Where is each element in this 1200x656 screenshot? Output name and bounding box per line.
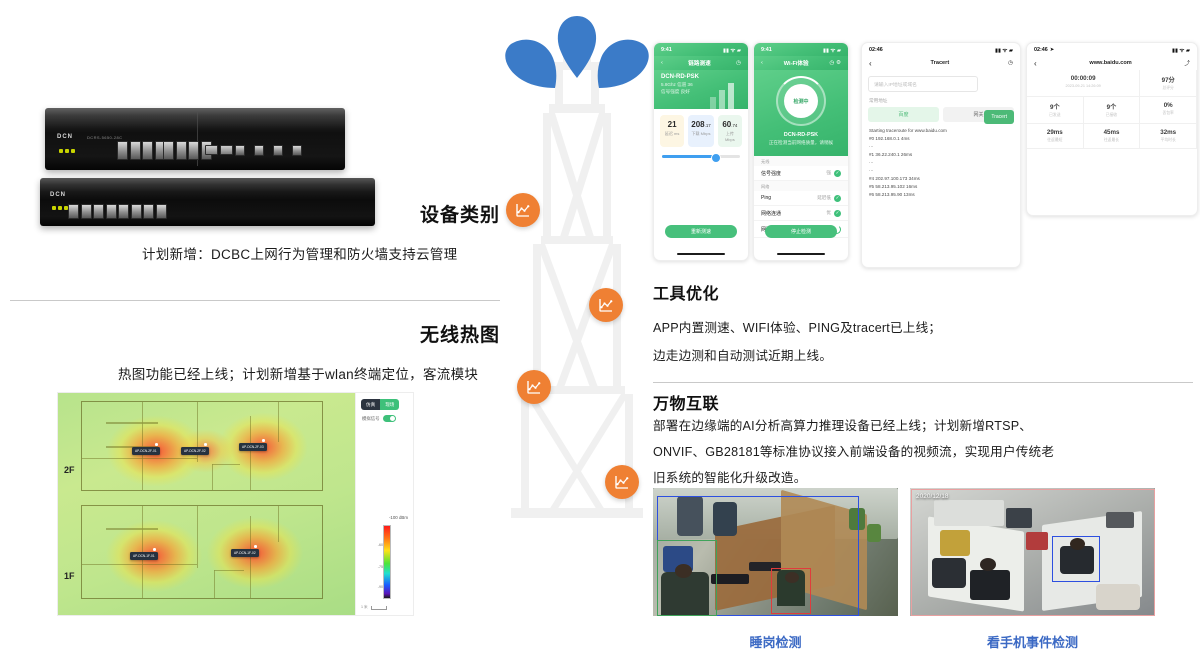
metric-received: 9个 已接收 [1084, 97, 1141, 124]
history-icon[interactable]: ◷ [736, 60, 741, 66]
metric-value: 29ms [1029, 129, 1081, 136]
scale-bar [371, 606, 387, 610]
section-title-iot: 万物互联 [653, 390, 719, 414]
tracert-status-bar: 02:46 ▮▮ ᯤ ▰ [862, 43, 1020, 56]
line-chart-icon [525, 378, 543, 396]
check-value: 优 [826, 210, 831, 216]
check-label: 信号强度 [761, 170, 781, 177]
section-body-device-category: 计划新增：DCBC上网行为管理和防火墙支持云管理 [142, 243, 457, 263]
metric-label: 2023-09-21 14:26:09 [1029, 84, 1137, 88]
iot-line-2: ONVIF、GB28181等标准协议接入前端设备的视频流，实现用户传统老 [653, 440, 1054, 465]
log-hop: ··· [869, 143, 1013, 151]
check-label: Ping [761, 195, 771, 201]
metric-label: 总评分 [1142, 86, 1194, 91]
log-hop: ··· [869, 167, 1013, 175]
network-switch-photo: DCN DCRS-5650-28C [45, 108, 345, 170]
chart-badge-icon[interactable] [605, 465, 639, 499]
section-body-wireless-heatmap: 热图功能已经上线；计划新增基于wlan终端定位，客流模块 [118, 363, 478, 383]
status-icons: ▮▮ ᯤ ▰ [823, 46, 841, 54]
floor-label-2f: 2F [64, 465, 75, 475]
heatmap-mode-segmented-control[interactable]: 仿真 现场 [361, 399, 399, 410]
phone-mockup-wifi-experience[interactable]: 9:41 ▮▮ ᯤ ▰ ‹ Wi-Fi体验 ◷ ⚙ 检测中 DCN-RD-PSK… [753, 42, 849, 261]
speedtest-navbar: ‹ 链路测速 ◷ [654, 56, 748, 70]
switch-led-indicators [59, 149, 75, 153]
metric-value: 9个 [1086, 102, 1138, 111]
switch-uplink-bank [235, 141, 302, 156]
status-icons: ▮▮ ᯤ ▰ [995, 46, 1013, 54]
legend-tick: -90 [378, 585, 383, 589]
simulated-signal-switch[interactable] [383, 415, 396, 422]
switch-model-label: DCRS-5650-28C [87, 135, 122, 140]
log-hop: ··· [869, 159, 1013, 167]
left-column: DCN DCRS-5650-28C DCN [0, 0, 500, 656]
metric-score: 97分 总评分 [1140, 70, 1197, 97]
metric-label: 往返最短 [1029, 138, 1081, 143]
metric-download: 208.17 下载 Mbps [688, 115, 713, 147]
metric-value: 0% [1142, 102, 1194, 109]
floorplan-2f [81, 401, 323, 491]
speedtest-metrics: 21 延迟 ms 208.17 下载 Mbps 60.74 上传 Mbps [654, 109, 748, 153]
wifi-heatmap-panel[interactable]: 2F AP-DCN-2F-01 AP-DCN-2F-02 AP-DCN-2F-0… [57, 392, 414, 616]
settings-icons[interactable]: ◷ ⚙ [830, 60, 841, 66]
metric-unit: .17 [705, 123, 711, 128]
slider-knob[interactable] [711, 153, 721, 163]
browser-navbar: ‹ www.baidu.com ⤴ [1027, 56, 1197, 70]
recent-address-label: 常用地址 [862, 98, 1020, 104]
chart-badge-icon[interactable] [517, 370, 551, 404]
log-hop: #5 58.213.95.102 16ms [869, 183, 1013, 191]
metric-value: 32ms [1142, 129, 1194, 136]
status-time: 02:46 [869, 47, 883, 53]
metric-value: 21 [663, 120, 681, 129]
metric-value: 60 [722, 120, 731, 129]
metric-value: 00:00:09 [1029, 75, 1137, 82]
history-icon[interactable]: ◷ [1008, 60, 1013, 66]
metric-sent: 9个 已发送 [1027, 97, 1084, 124]
tracert-run-button[interactable]: Tracert [984, 110, 1014, 124]
simulated-signal-label: 模拟信号 [362, 416, 380, 422]
back-icon[interactable]: ‹ [761, 60, 763, 66]
metric-label: 已发送 [1029, 113, 1081, 118]
wifi-status-bar: 9:41 ▮▮ ᯤ ▰ [754, 43, 848, 56]
check-value: 延迟低 [817, 195, 831, 201]
log-hop: #6 58.213.95.90 13ms [869, 191, 1013, 199]
status-time: 9:41 [661, 47, 672, 53]
ap-marker[interactable]: AP-DCN-1F-02 [231, 549, 259, 557]
metric-value: 9个 [1029, 102, 1081, 111]
metric-rtt-min: 29ms 往返最短 [1027, 124, 1084, 149]
check-ok-icon: ✓ [834, 170, 841, 177]
wifi-ssid-sub: 正在检测当前网络质量，请稍候 [769, 140, 833, 146]
metric-unit: .74 [731, 123, 737, 128]
ap-marker[interactable]: AP-DCN-1F-01 [130, 552, 158, 560]
metric-label: 上传 Mbps [721, 131, 739, 142]
wifi-scan-block: 检测中 DCN-RD-PSK 正在检测当前网络质量，请稍候 [754, 70, 848, 156]
metric-label: 已接收 [1086, 113, 1138, 118]
wifi-group-label: 网络 [754, 181, 848, 191]
tool-optimization-line-2: 边走边测和自动测试近期上线。 [653, 344, 832, 369]
left-section-divider [10, 300, 500, 301]
tracert-navbar: ‹ Tracert ◷ [862, 56, 1020, 70]
log-header: Starting traceroute for www.baidu.com [869, 127, 1013, 135]
stop-test-button[interactable]: 停止检测 [765, 225, 837, 238]
back-icon[interactable]: ‹ [869, 59, 872, 68]
share-icon[interactable]: ⤴ [1184, 59, 1190, 67]
section-title-device-category: 设备类别 [0, 200, 500, 227]
speedtest-ssid-block: DCN-RD-PSK 5.8Ghz 信道 36 信号强度 良好 [654, 70, 748, 109]
speedtest-title: 链路测速 [688, 59, 710, 67]
speedtest-status-bar: 9:41 ▮▮ ᯤ ▰ [654, 43, 748, 56]
ap-marker[interactable]: AP-DCN-2F-02 [181, 447, 209, 455]
browser-status-bar: 02:46 ➤ ▮▮ ᯤ ▰ [1027, 43, 1197, 56]
metric-label: 丢包率 [1142, 111, 1194, 116]
scan-progress-ring: 检测中 [776, 76, 826, 126]
wifi-navbar: ‹ Wi-Fi体验 ◷ ⚙ [754, 56, 848, 70]
surveillance-image-sleeping-detection [653, 488, 898, 616]
phone-mockup-browser-result[interactable]: 02:46 ➤ ▮▮ ᯤ ▰ ‹ www.baidu.com ⤴ 00:00:0… [1026, 42, 1198, 216]
legend-tick: -60 [378, 543, 383, 547]
ap-marker[interactable]: AP-DCN-2F-01 [132, 447, 160, 455]
iot-line-1: 部署在边缘端的AI分析高算力推理设备已经上线；计划新增RTSP、 [653, 414, 1032, 439]
log-hop: #0 192.168.0.1 4ms [869, 135, 1013, 143]
log-hop: #1 36.22.240.1 26ms [869, 151, 1013, 159]
segment-simulated[interactable]: 仿真 [361, 399, 380, 410]
segment-onsite[interactable]: 现场 [380, 399, 399, 410]
speedtest-slider[interactable] [662, 155, 740, 158]
metric-upload: 60.74 上传 Mbps [718, 115, 742, 147]
floorplan-1f [81, 505, 323, 599]
line-chart-icon [613, 473, 631, 491]
metric-value: 208 [691, 120, 704, 129]
switch-port-bank-a [117, 141, 166, 160]
log-hop: #4 202.97.100.173 34ms [869, 175, 1013, 183]
metric-value: 45ms [1086, 129, 1138, 136]
tool-optimization-line-1: APP内置测速、WIFI体验、PING及tracert已上线； [653, 316, 941, 341]
switch-sfp-bank [205, 141, 233, 155]
scan-status-text: 检测中 [784, 84, 818, 118]
metric-label: 平均时长 [1142, 138, 1194, 143]
map-scale: 1 米 [361, 605, 387, 610]
status-time: 9:41 [761, 47, 772, 53]
metric-loss: 0% 丢包率 [1140, 97, 1197, 124]
right-section-divider [653, 382, 1193, 383]
tracert-address-input[interactable]: 请输入IP地址或域名 [868, 76, 978, 92]
back-icon[interactable]: ‹ [1034, 59, 1037, 68]
section-title-tool-optimization: 工具优化 [653, 280, 719, 304]
metric-rtt-max: 45ms 往返最长 [1084, 124, 1141, 149]
surveillance-image-phone-detection: 2020/12/18 [910, 488, 1155, 616]
wifi-check-row[interactable]: Ping 延迟低 ✓ [754, 191, 848, 206]
iot-line-3: 旧系统的智能化升级改造。 [653, 466, 807, 491]
metric-value: 97分 [1142, 75, 1194, 84]
tracert-title: Tracert [931, 60, 950, 66]
heatmap-signal-overlay: 2F AP-DCN-2F-01 AP-DCN-2F-02 AP-DCN-2F-0… [58, 393, 356, 615]
wifi-title: Wi-Fi体验 [784, 59, 809, 67]
metric-label: 延迟 ms [663, 131, 681, 137]
line-chart-icon [597, 296, 615, 314]
signal-strength-legend [383, 525, 391, 599]
check-value: 强 [826, 170, 831, 176]
switch-brand-label: DCN [57, 134, 73, 140]
right-column: 9:41 ▮▮ ᯤ ▰ ‹ 链路测速 ◷ DCN-RD-PSK 5.8Ghz 信… [648, 0, 1200, 656]
wifi-group-label: 无线 [754, 156, 848, 166]
caption-phone-detection: 看手机事件检测 [910, 632, 1155, 651]
location-arrow-icon: ➤ [1050, 47, 1055, 53]
legend-max-label: -100 dBm [389, 515, 408, 520]
metric-latency: 21 延迟 ms [660, 115, 684, 147]
floor-label-1f: 1F [64, 571, 75, 581]
wifi-ssid: DCN-RD-PSK [784, 132, 818, 138]
firewall-brand-label: DCN [50, 192, 66, 198]
metric-label: 往返最长 [1086, 138, 1138, 143]
legend-tick: -75 [378, 565, 383, 569]
check-ok-icon: ✓ [834, 195, 841, 202]
retest-button[interactable]: 重新测速 [665, 225, 737, 238]
heatmap-side-panel: 仿真 现场 模拟信号 -100 dBm -60 -75 -90 1 米 [355, 393, 413, 615]
metric-rtt-avg: 32ms 平均时长 [1140, 124, 1197, 149]
signal-bars-icon [708, 79, 742, 109]
tab-baidu[interactable]: 百度 [868, 107, 939, 122]
status-time: 02:46 [1034, 47, 1048, 53]
simulated-signal-toggle-row[interactable]: 模拟信号 [362, 415, 396, 422]
line-chart-icon [514, 201, 532, 219]
home-indicator [677, 253, 725, 256]
back-icon[interactable]: ‹ [661, 60, 663, 66]
chart-badge-icon[interactable] [589, 288, 623, 322]
ap-marker[interactable]: AP-DCN-2F-03 [239, 443, 267, 451]
signal-tower-graphic [497, 0, 657, 540]
section-title-wireless-heatmap: 无线热图 [0, 320, 500, 347]
home-indicator [777, 253, 825, 256]
check-ok-icon: ✓ [834, 210, 841, 217]
metric-label: 下载 Mbps [691, 131, 710, 137]
scale-label: 1 米 [361, 605, 368, 610]
tracert-output-log: Starting traceroute for www.baidu.com #0… [862, 122, 1020, 204]
status-icons: ▮▮ ᯤ ▰ [723, 46, 741, 54]
wifi-check-row[interactable]: 信号强度 强 ✓ [754, 166, 848, 181]
slide-canvas: DCN DCRS-5650-28C DCN [0, 0, 1200, 656]
browser-metrics-grid: 00:00:09 2023-09-21 14:26:09 97分 总评分 9个 … [1027, 70, 1197, 149]
tower-lattice-icon [511, 52, 643, 518]
slider-fill [662, 155, 713, 158]
wifi-check-row[interactable]: 网络连通 优 ✓ [754, 206, 848, 221]
tower-svg [497, 0, 657, 540]
signal-petals-icon [505, 16, 648, 88]
phone-mockup-speedtest[interactable]: 9:41 ▮▮ ᯤ ▰ ‹ 链路测速 ◷ DCN-RD-PSK 5.8Ghz 信… [653, 42, 749, 261]
status-icons: ▮▮ ᯤ ▰ [1172, 46, 1190, 54]
browser-url: www.baidu.com [1089, 60, 1131, 66]
chart-badge-icon[interactable] [506, 193, 540, 227]
check-label: 网络连通 [761, 210, 781, 217]
caption-sleeping-detection: 睡岗检测 [653, 632, 898, 651]
phone-mockup-tracert[interactable]: 02:46 ▮▮ ᯤ ▰ ‹ Tracert ◷ 请输入IP地址或域名 Trac… [861, 42, 1021, 268]
camera-timestamp: 2020/12/18 [916, 493, 949, 500]
metric-total-time: 00:00:09 2023-09-21 14:26:09 [1027, 70, 1140, 97]
